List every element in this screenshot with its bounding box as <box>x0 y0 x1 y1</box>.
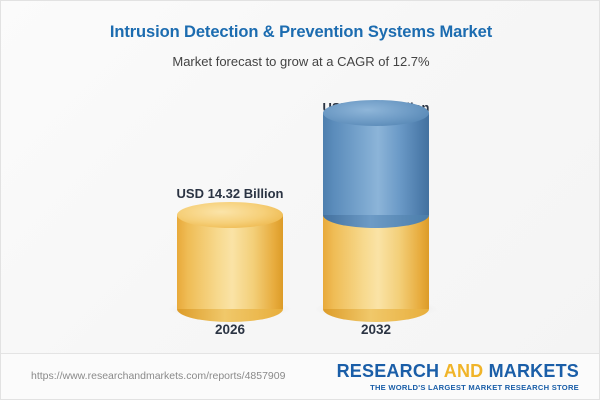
cylinder-body <box>177 215 283 309</box>
category-label-2032: 2032 <box>361 322 391 337</box>
logo-word-research: RESEARCH <box>337 361 440 381</box>
plot-area: USD 14.32 Billion 2026 USD 29.83 Billion <box>1 1 600 353</box>
logo-word-markets: MARKETS <box>489 361 579 381</box>
cylinder-body <box>323 215 429 309</box>
cylinder-top-cap <box>177 202 283 228</box>
cylinder-body <box>323 113 429 215</box>
logo-tagline: THE WORLD'S LARGEST MARKET RESEARCH STOR… <box>337 383 579 392</box>
report-url[interactable]: https://www.researchandmarkets.com/repor… <box>31 370 285 382</box>
logo-word-and: AND <box>444 361 484 381</box>
footer: https://www.researchandmarkets.com/repor… <box>1 354 600 400</box>
cylinder-segment-growth <box>323 113 429 215</box>
bar-value-label: USD 14.32 Billion <box>177 186 284 201</box>
cylinder-segment-base <box>323 215 429 309</box>
cylinder-segment-base <box>177 215 283 309</box>
category-label-2026: 2026 <box>215 322 245 337</box>
research-and-markets-logo[interactable]: RESEARCH AND MARKETS THE WORLD'S LARGEST… <box>337 362 579 392</box>
infographic-card: Intrusion Detection & Prevention Systems… <box>0 0 600 400</box>
cylinder-top-cap <box>323 100 429 126</box>
logo-wordmark: RESEARCH AND MARKETS <box>337 362 579 381</box>
